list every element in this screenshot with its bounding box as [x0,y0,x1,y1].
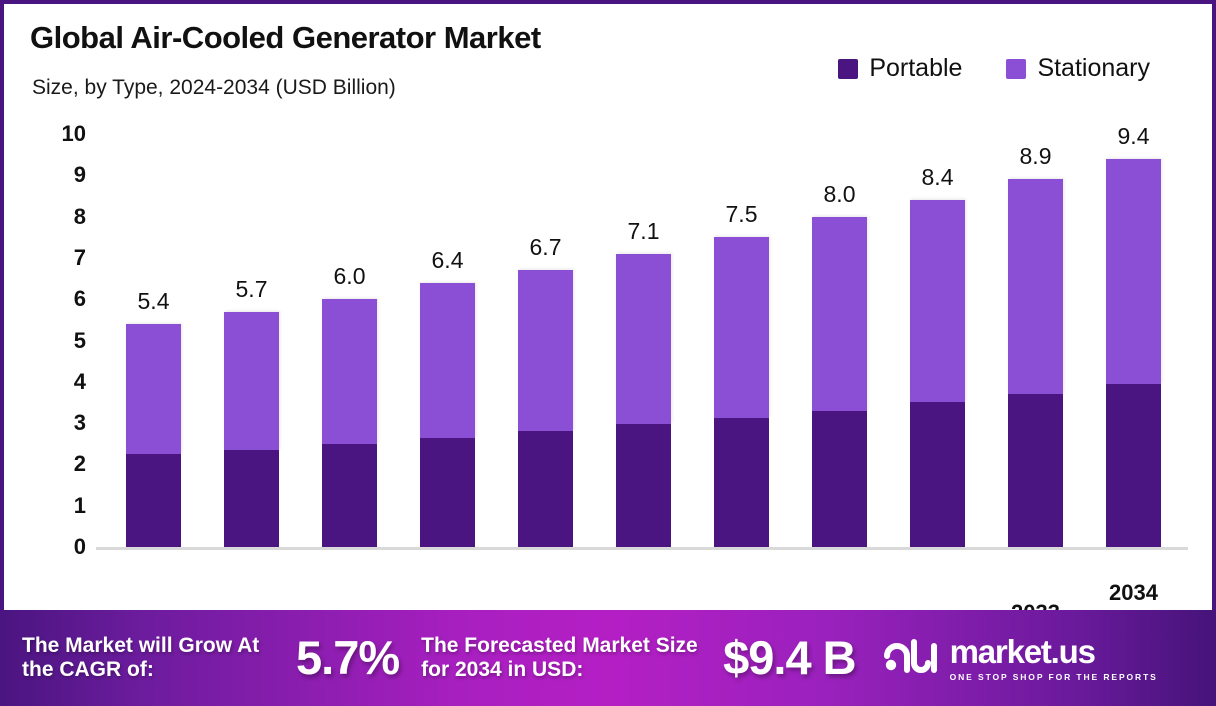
bar-segment-stationary[interactable] [224,312,279,450]
bar-group[interactable]: 5.72025 [224,312,279,547]
bar-segment-portable[interactable] [322,444,377,547]
page-title: Global Air-Cooled Generator Market [30,20,541,56]
bar-segment-stationary[interactable] [126,324,181,454]
forecast-size-caption: The Forecasted Market Size for 2034 in U… [421,634,723,682]
market-us-logo[interactable]: market.us ONE STOP SHOP FOR THE REPORTS [884,635,1158,682]
bottom-banner: The Market will Grow At the CAGR of: 5.7… [0,610,1216,706]
logo-wordmark: market.us [950,635,1158,668]
bar-segment-portable[interactable] [420,438,475,547]
legend-item-portable[interactable]: Portable [838,56,962,81]
infographic-root: Global Air-Cooled Generator Market Size,… [0,0,1216,706]
bar-segment-stationary[interactable] [812,217,867,411]
y-axis-tick: 4 [34,369,86,395]
bar-group[interactable]: 8.02031 [812,217,867,547]
bar-group[interactable]: 7.52030 [714,237,769,547]
y-axis-tick: 0 [34,534,86,560]
bar-segment-portable[interactable] [616,424,671,547]
bar-group[interactable]: 8.42032 [910,200,965,547]
bar-group[interactable]: 9.42034 [1106,159,1161,547]
bar-segment-stationary[interactable] [420,283,475,438]
forecast-size-value: $9.4 B [723,631,855,685]
bar-segment-stationary[interactable] [910,200,965,402]
legend-label: Portable [869,56,962,81]
bar-value-label: 5.4 [138,288,170,315]
y-axis-labels: 012345678910 [34,122,86,559]
bar-segment-stationary[interactable] [1008,179,1063,394]
bar-segment-portable[interactable] [714,418,769,547]
legend-swatch-icon [1006,59,1026,79]
bar-value-label: 6.0 [334,263,366,290]
bar-segment-stationary[interactable] [616,254,671,425]
cagr-value: 5.7% [296,631,399,685]
logo-text-block: market.us ONE STOP SHOP FOR THE REPORTS [950,635,1158,682]
bar-segment-portable[interactable] [812,411,867,547]
x-axis-line [96,547,1188,550]
bar-segment-portable[interactable] [518,431,573,547]
cagr-caption: The Market will Grow At the CAGR of: [22,634,290,682]
y-axis-tick: 6 [34,286,86,312]
bar-value-label: 8.4 [922,164,954,191]
y-axis-tick: 2 [34,451,86,477]
chart-legend: PortableStationary [838,56,1150,81]
bar-group[interactable]: 6.02026 [322,299,377,547]
bar-value-label: 8.0 [824,181,856,208]
bar-group[interactable]: 6.72028 [518,270,573,547]
logo-tagline: ONE STOP SHOP FOR THE REPORTS [950,672,1158,682]
page-subtitle: Size, by Type, 2024-2034 (USD Billion) [32,76,396,100]
bar-segment-stationary[interactable] [518,270,573,431]
y-axis-tick: 7 [34,245,86,271]
bar-value-label: 5.7 [236,276,268,303]
bar-value-label: 7.5 [726,201,758,228]
bar-group[interactable]: 7.12029 [616,254,671,547]
legend-swatch-icon [838,59,858,79]
legend-label: Stationary [1037,56,1150,81]
bar-value-label: 6.7 [530,234,562,261]
bar-segment-portable[interactable] [224,450,279,547]
market-us-mark-icon [884,639,940,678]
bar-segment-portable[interactable] [910,402,965,547]
bar-segment-portable[interactable] [1106,384,1161,547]
bar-segment-stationary[interactable] [1106,159,1161,384]
bar-segment-portable[interactable] [126,454,181,547]
bar-group[interactable]: 8.92033 [1008,179,1063,547]
y-axis-tick: 8 [34,204,86,230]
bar-value-label: 9.4 [1118,123,1150,150]
x-axis-label: 2034 [1109,580,1158,606]
y-axis-tick: 3 [34,410,86,436]
bar-value-label: 8.9 [1020,143,1052,170]
bar-segment-stationary[interactable] [714,237,769,417]
bar-value-label: 6.4 [432,247,464,274]
y-axis-tick: 9 [34,162,86,188]
chart-plot-area: 5.420245.720256.020266.420276.720287.120… [96,134,1188,547]
bar-group[interactable]: 6.42027 [420,283,475,547]
y-axis-tick: 1 [34,493,86,519]
legend-item-stationary[interactable]: Stationary [1006,56,1150,81]
y-axis-tick: 10 [34,121,86,147]
bar-segment-stationary[interactable] [322,299,377,444]
bar-value-label: 7.1 [628,218,660,245]
bar-segment-portable[interactable] [1008,394,1063,547]
y-axis-tick: 5 [34,328,86,354]
bar-group[interactable]: 5.42024 [126,324,181,547]
